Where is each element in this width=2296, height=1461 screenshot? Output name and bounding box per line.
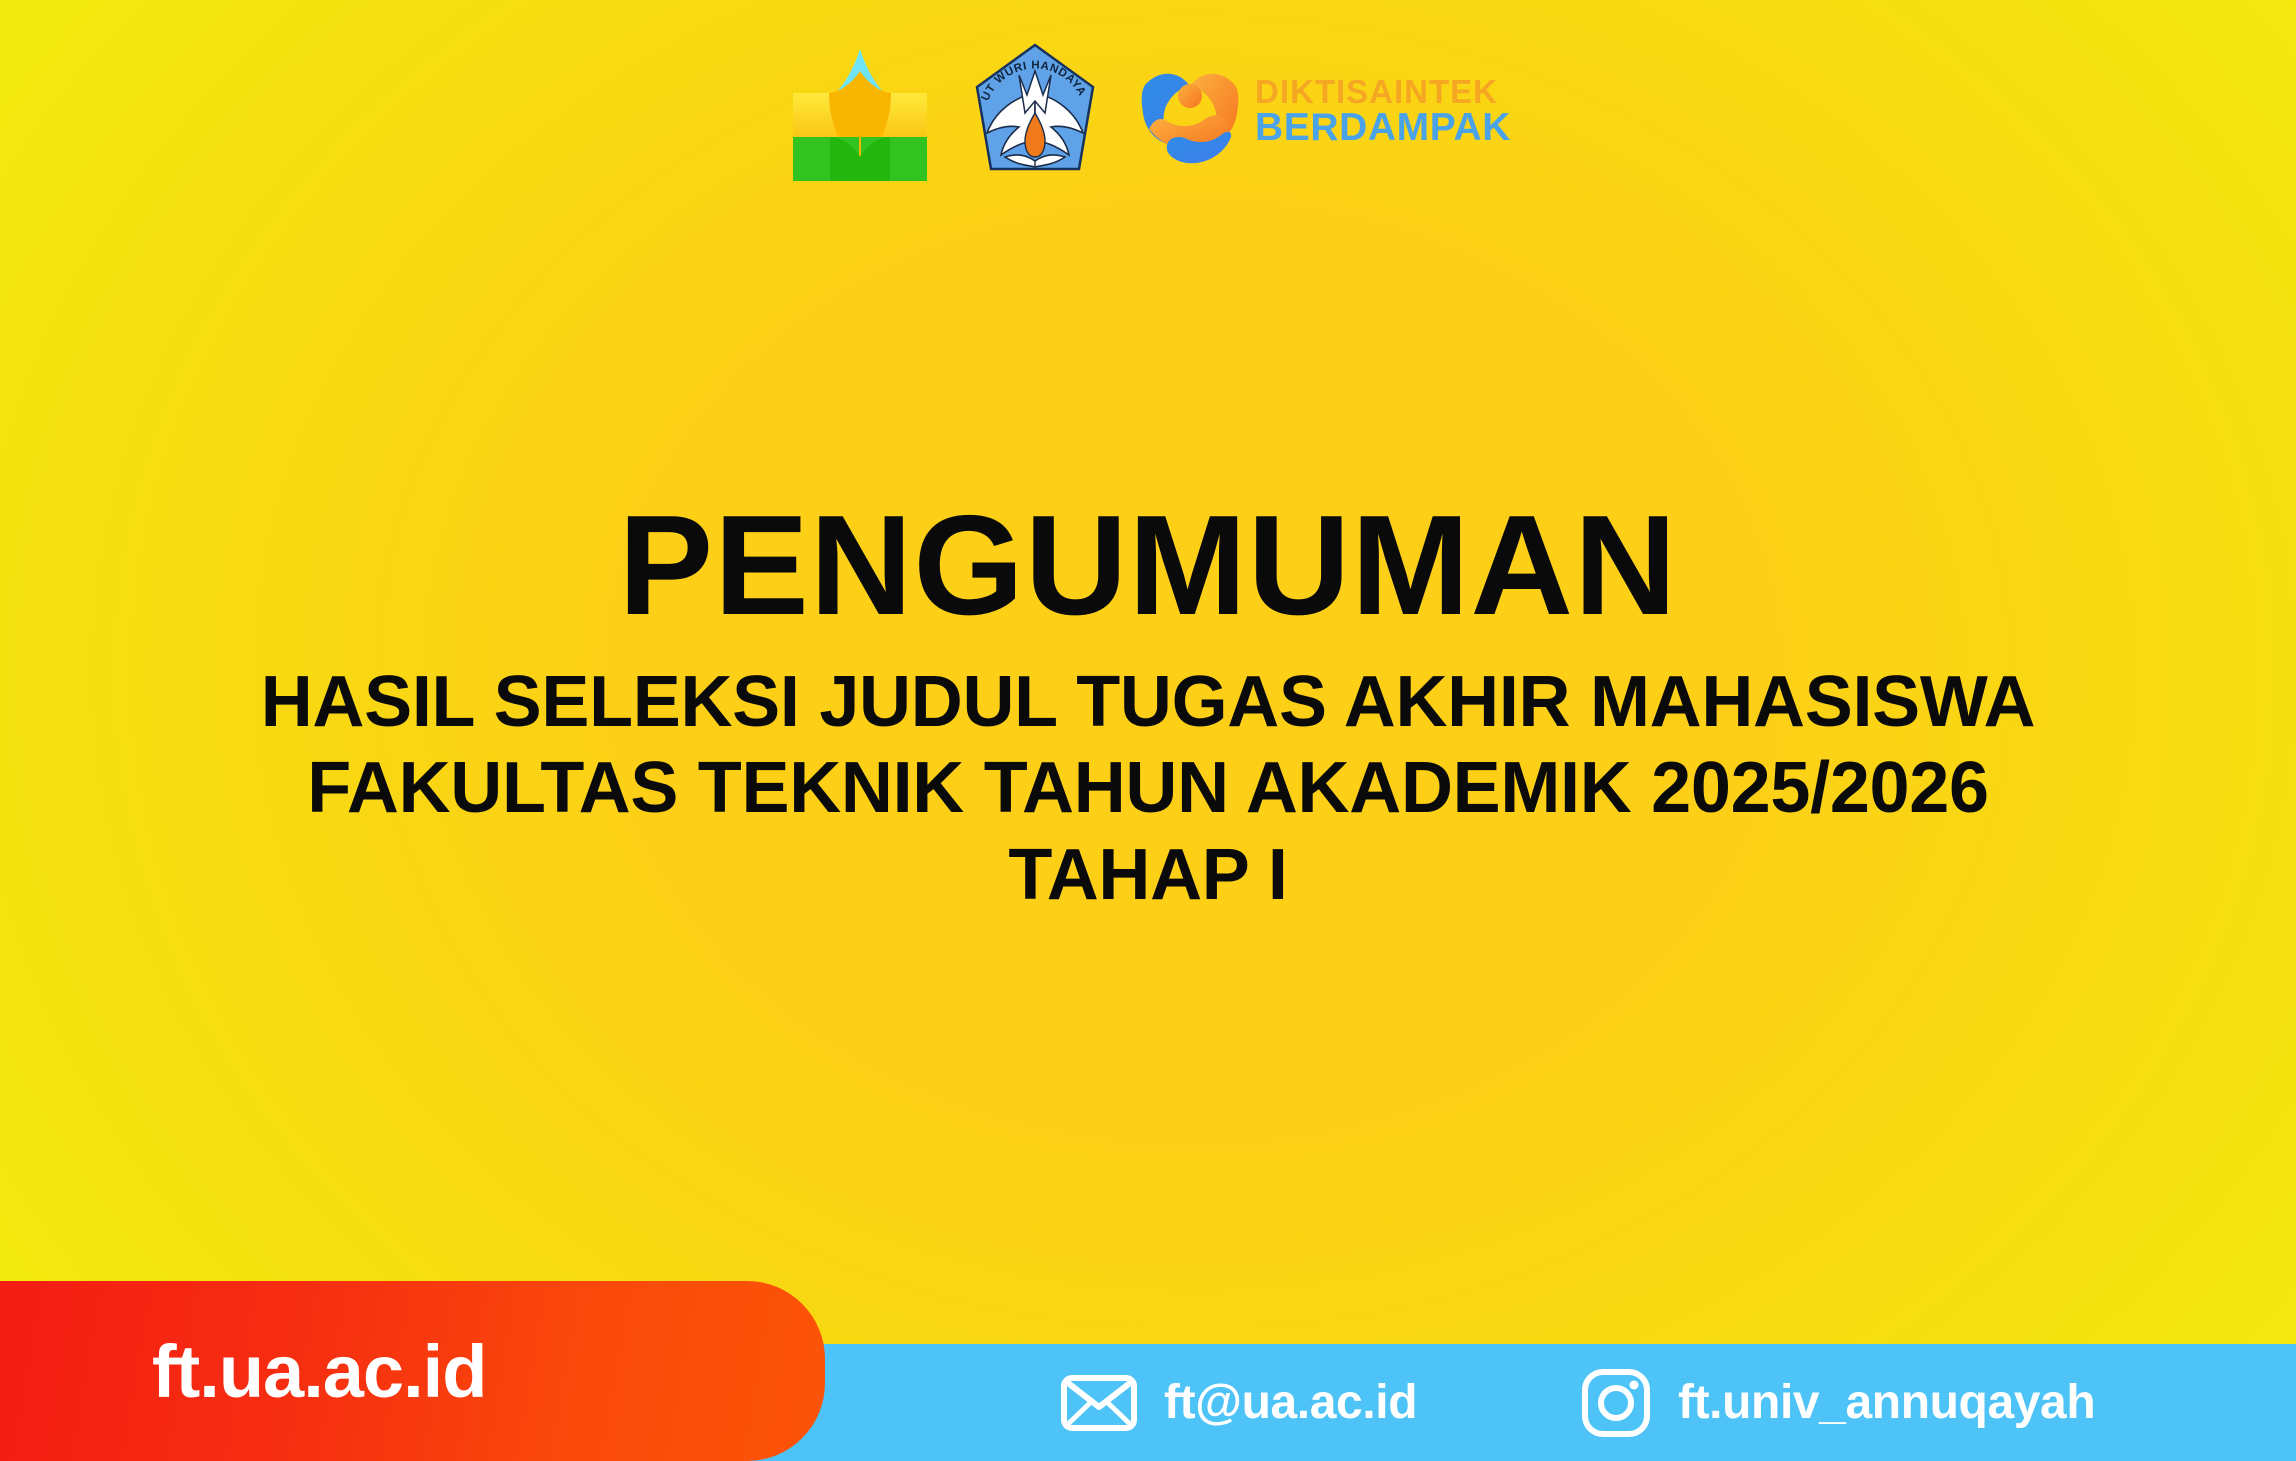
diktisaintek-wordmark: DIKTISAINTEK BERDAMPAK (1255, 75, 1511, 147)
berdampak-label: BERDAMPAK (1255, 108, 1511, 147)
email-label: ft@ua.ac.id (1164, 1375, 1417, 1430)
subtitle-line-2: FAKULTAS TEKNIK TAHUN AKADEMIK 2025/2026 (0, 745, 2296, 831)
website-label: ft.ua.ac.id (152, 1329, 486, 1414)
instagram-icon (1580, 1367, 1652, 1439)
tut-wuri-handayani-logo: TUT WURI HANDAYANI (965, 41, 1105, 181)
page-title: PENGUMUMAN (0, 495, 2296, 637)
subtitle-block: HASIL SELEKSI JUDUL TUGAS AKHIR MAHASISW… (0, 659, 2296, 918)
tulip-icon (785, 41, 935, 181)
instagram-contact[interactable]: ft.univ_annuqayah (1580, 1367, 2095, 1439)
website-bar[interactable]: ft.ua.ac.id (0, 1281, 825, 1461)
headline-block: PENGUMUMAN HASIL SELEKSI JUDUL TUGAS AKH… (0, 495, 2296, 918)
email-contact[interactable]: ft@ua.ac.id (1060, 1374, 1417, 1432)
subtitle-line-1: HASIL SELEKSI JUDUL TUGAS AKHIR MAHASISW… (0, 659, 2296, 745)
diktisaintek-berdampak-logo: DIKTISAINTEK BERDAMPAK (1135, 41, 1511, 181)
tut-wuri-handayani-icon: TUT WURI HANDAYANI (965, 41, 1105, 181)
envelope-icon (1060, 1374, 1138, 1432)
instagram-label: ft.univ_annuqayah (1678, 1375, 2095, 1430)
diktisaintek-figure-icon (1135, 51, 1245, 171)
announcement-poster: TUT WURI HANDAYANI (0, 0, 2296, 1461)
tulip-logo (785, 41, 935, 181)
subtitle-line-3: TAHAP I (0, 832, 2296, 918)
logo-row: TUT WURI HANDAYANI (0, 38, 2296, 183)
diktisaintek-label: DIKTISAINTEK (1255, 75, 1511, 108)
